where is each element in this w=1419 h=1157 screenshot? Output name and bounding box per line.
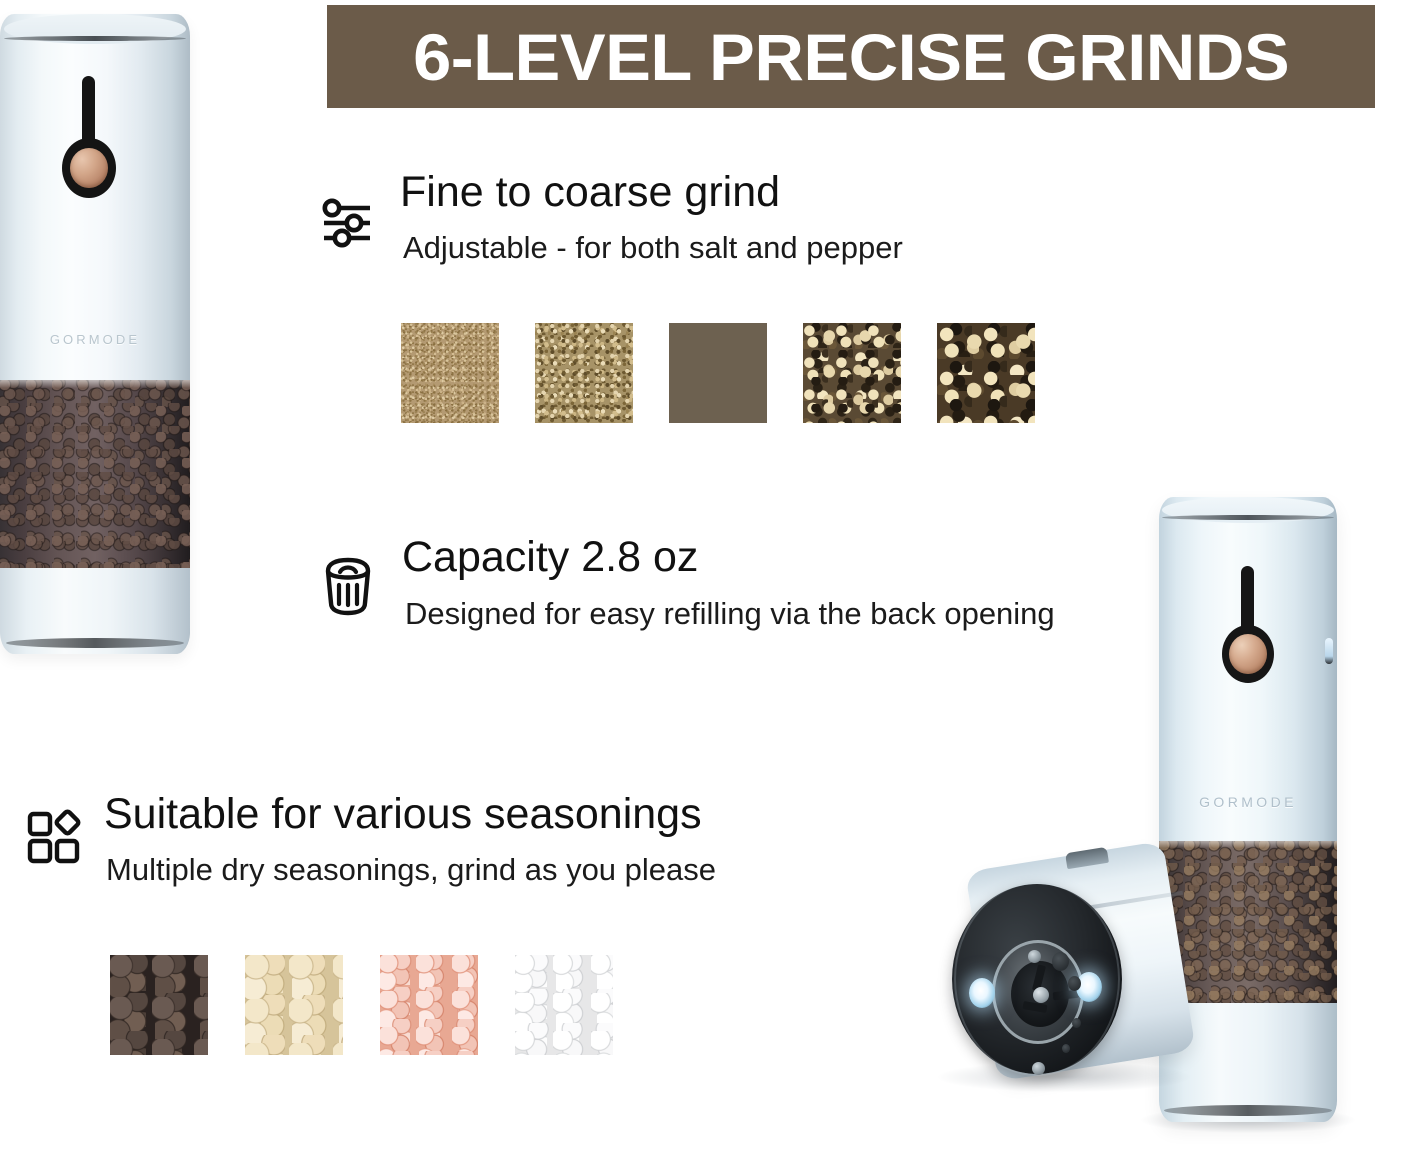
head-port [1072, 1018, 1081, 1028]
feature-subtitle: Designed for easy refilling via the back… [405, 596, 1055, 632]
headline-banner: 6-LEVEL PRECISE GRINDS [327, 5, 1375, 108]
seasoning-swatch-white-salt [515, 955, 613, 1055]
product-image-lying-grinder [946, 848, 1216, 1120]
grinder-power-button-ring [62, 138, 116, 198]
seasoning-swatch-row [110, 955, 613, 1055]
grinder-power-slot [1241, 566, 1254, 634]
grinder-chamber-highlight [0, 380, 190, 388]
product-image-left-grinder: GORMODE [0, 14, 190, 654]
grinder-bottom-edge [6, 638, 184, 648]
feature-title: Suitable for various seasonings [104, 790, 702, 839]
grinder-chamber-highlight [1159, 841, 1337, 848]
grind-swatch-2 [535, 323, 633, 423]
feature-subtitle: Adjustable - for both salt and pepper [403, 230, 903, 266]
grind-swatch-4 [803, 323, 901, 423]
grinder-pepper-chamber [0, 380, 190, 568]
feature-title: Capacity 2.8 oz [402, 533, 698, 582]
grinder-power-button [70, 148, 108, 188]
grind-swatch-1 [401, 323, 499, 423]
feature-subtitle: Multiple dry seasonings, grind as you pl… [106, 852, 716, 888]
head-port [1068, 976, 1081, 991]
grinder-brand-label: GORMODE [0, 332, 190, 347]
feature-title: Fine to coarse grind [400, 168, 780, 217]
burr-vane [1053, 990, 1080, 1001]
head-port [1052, 952, 1069, 971]
grinder-power-button [1229, 634, 1267, 674]
head-port [1062, 1044, 1070, 1053]
headline-banner-text: 6-LEVEL PRECISE GRINDS [413, 24, 1289, 90]
grinder-brand-label: GORMODE [1159, 794, 1337, 810]
seasoning-swatch-white-peppercorns [245, 955, 343, 1055]
seasoning-swatch-black-peppercorns [110, 955, 208, 1055]
grinder-power-button-ring [1222, 625, 1274, 683]
led-light-left [969, 978, 995, 1008]
head-screw-bottom [1032, 1062, 1045, 1075]
shapes-grid-icon [26, 808, 82, 864]
grind-swatch-3 [669, 323, 767, 423]
container-icon [320, 557, 376, 617]
grinder-grinding-head [952, 884, 1122, 1074]
grind-level-swatch-row [401, 323, 1035, 423]
product-infographic: 6-LEVEL PRECISE GRINDS GORMODE [0, 0, 1419, 1157]
grinder-led-indicator [1325, 638, 1333, 664]
grind-swatch-5 [937, 323, 1035, 423]
grinder-cap-seam [4, 36, 186, 41]
burr-center-screw [1033, 987, 1049, 1003]
seasoning-swatch-pink-himalayan-salt [380, 955, 478, 1055]
sliders-icon [318, 194, 376, 252]
burr-vane [1022, 1001, 1047, 1013]
head-screw-top [1028, 950, 1041, 963]
grinder-cap-seam [1162, 515, 1334, 520]
